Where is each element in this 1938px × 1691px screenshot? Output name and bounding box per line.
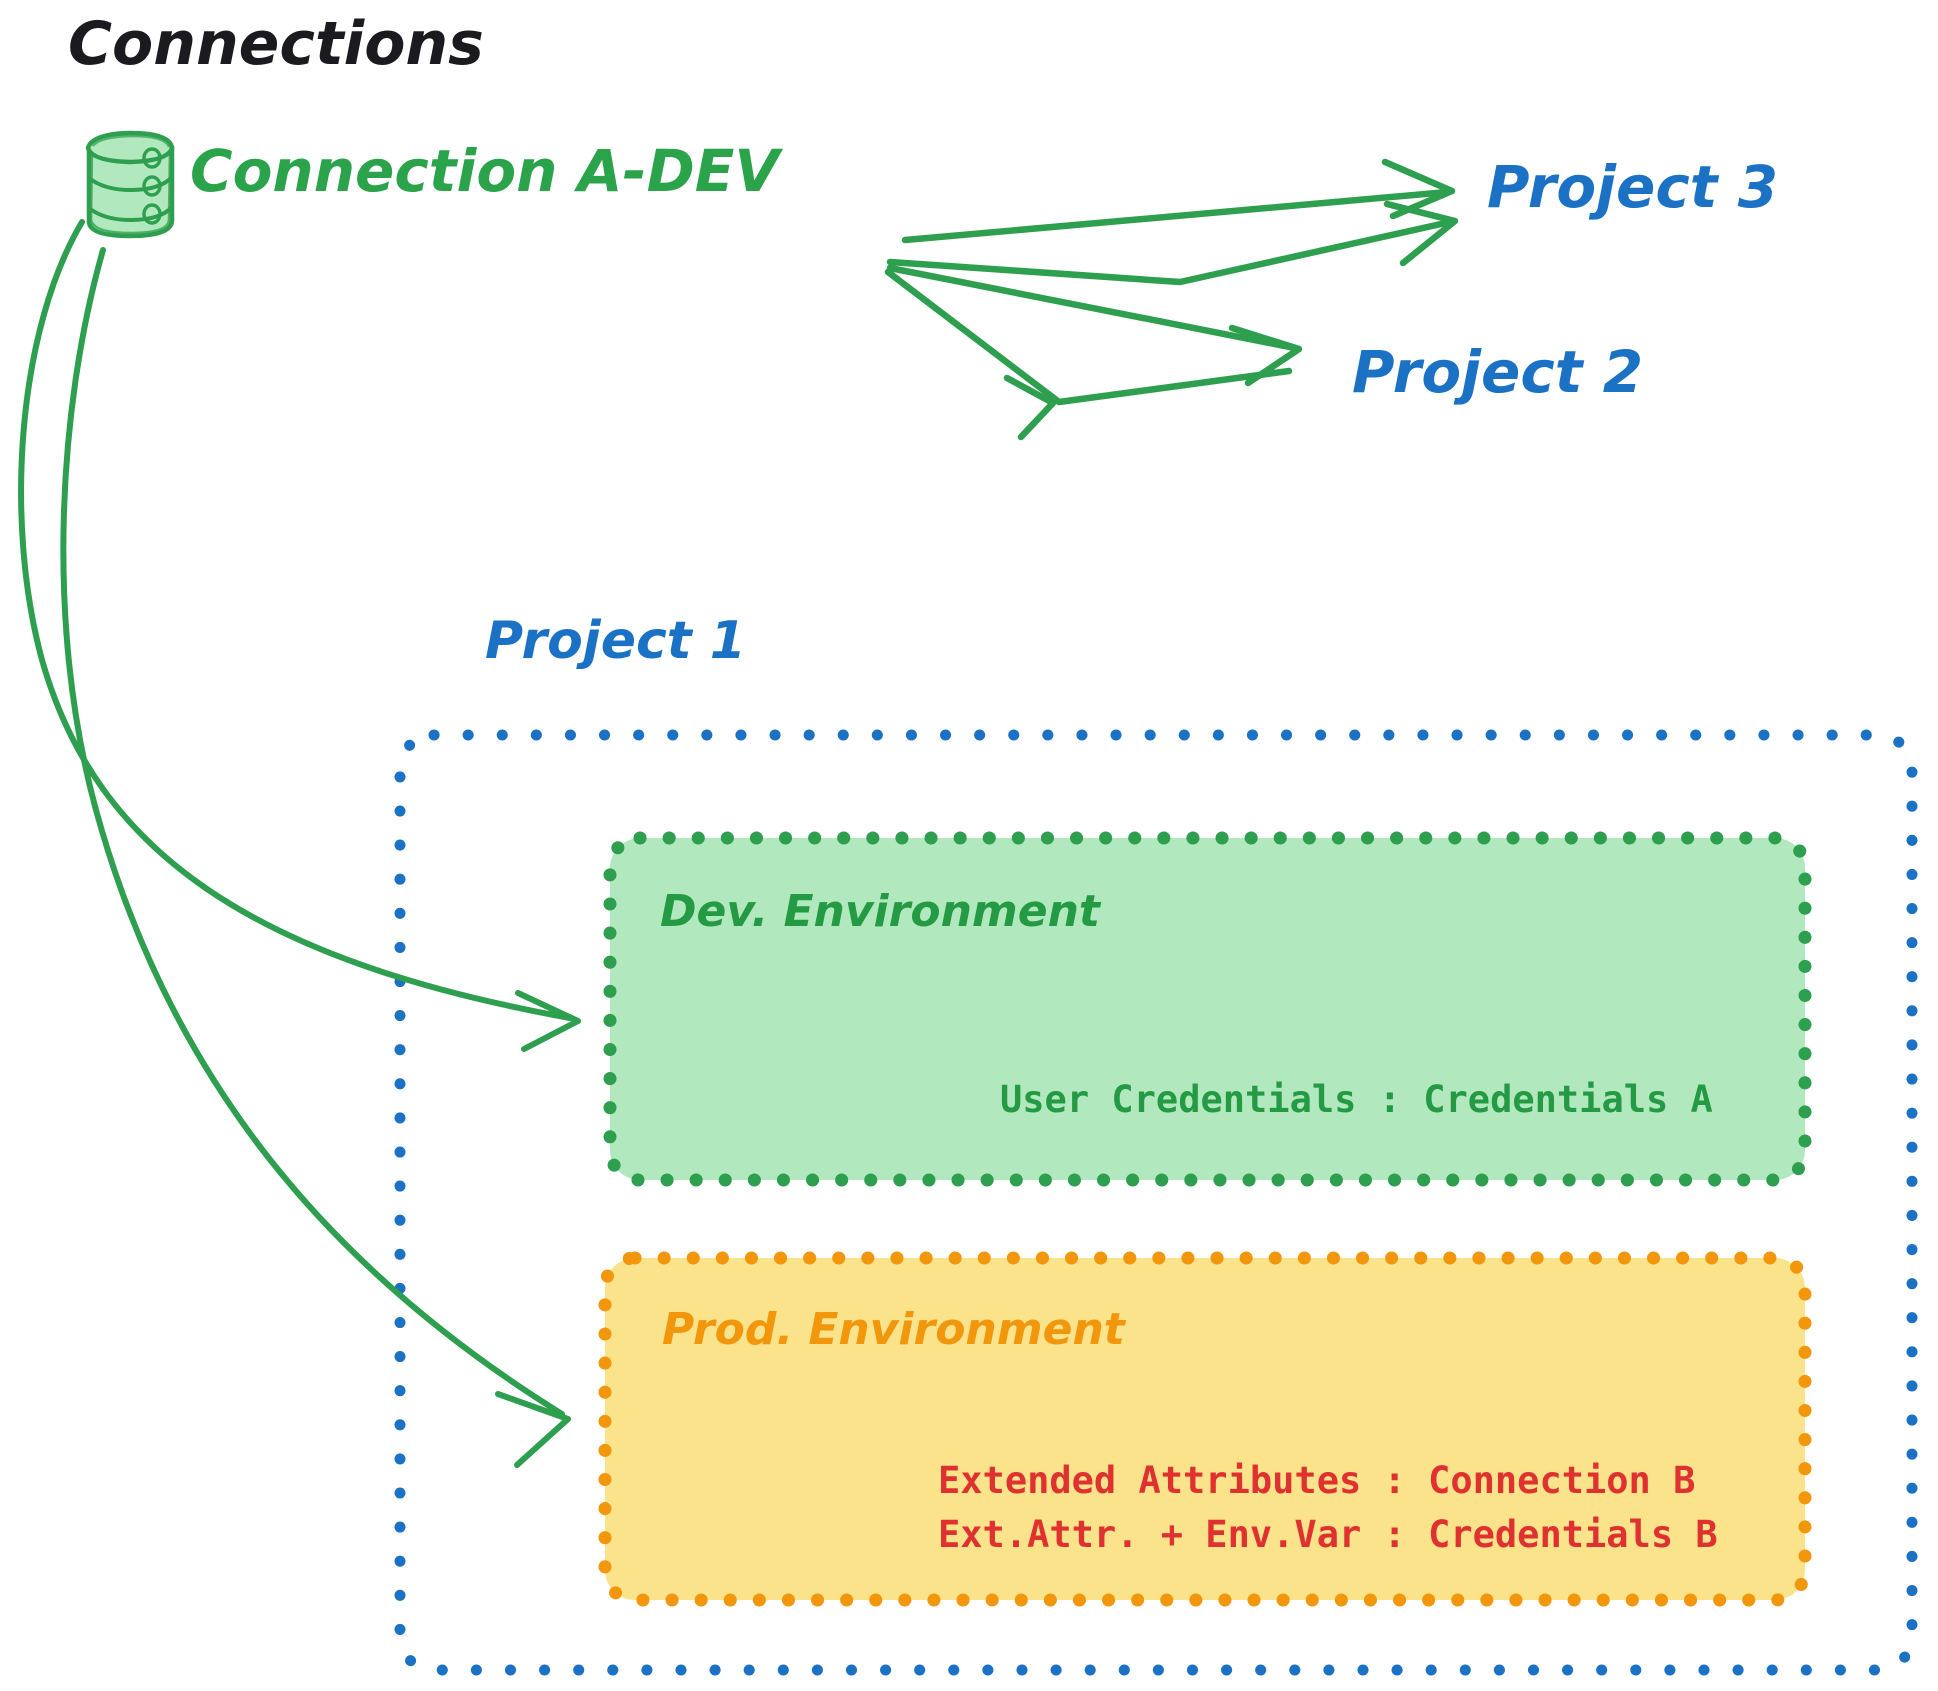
project-3-label: Project 3	[1487, 158, 1778, 216]
diagram-shapes	[0, 0, 1938, 1691]
project-2-label: Project 2	[1352, 343, 1643, 401]
prod-environment-line-2: Ext.Attr. + Env.Var : Credentials B	[938, 1516, 1718, 1553]
prod-environment-title: Prod. Environment	[662, 1308, 1125, 1352]
dev-environment-line-1: User Credentials : Credentials A	[1000, 1081, 1713, 1118]
connection-arrows-left	[21, 222, 578, 1465]
diagram-canvas: Connections Connection A-DEV Project 3 P…	[0, 0, 1938, 1691]
project-1-label: Project 1	[485, 615, 746, 667]
connection-label: Connection A-DEV	[190, 142, 779, 200]
page-title: Connections	[68, 14, 484, 74]
dev-environment-title: Dev. Environment	[660, 890, 1100, 934]
prod-environment-line-1: Extended Attributes : Connection B	[938, 1462, 1695, 1499]
database-cylinder-icon	[88, 133, 172, 236]
